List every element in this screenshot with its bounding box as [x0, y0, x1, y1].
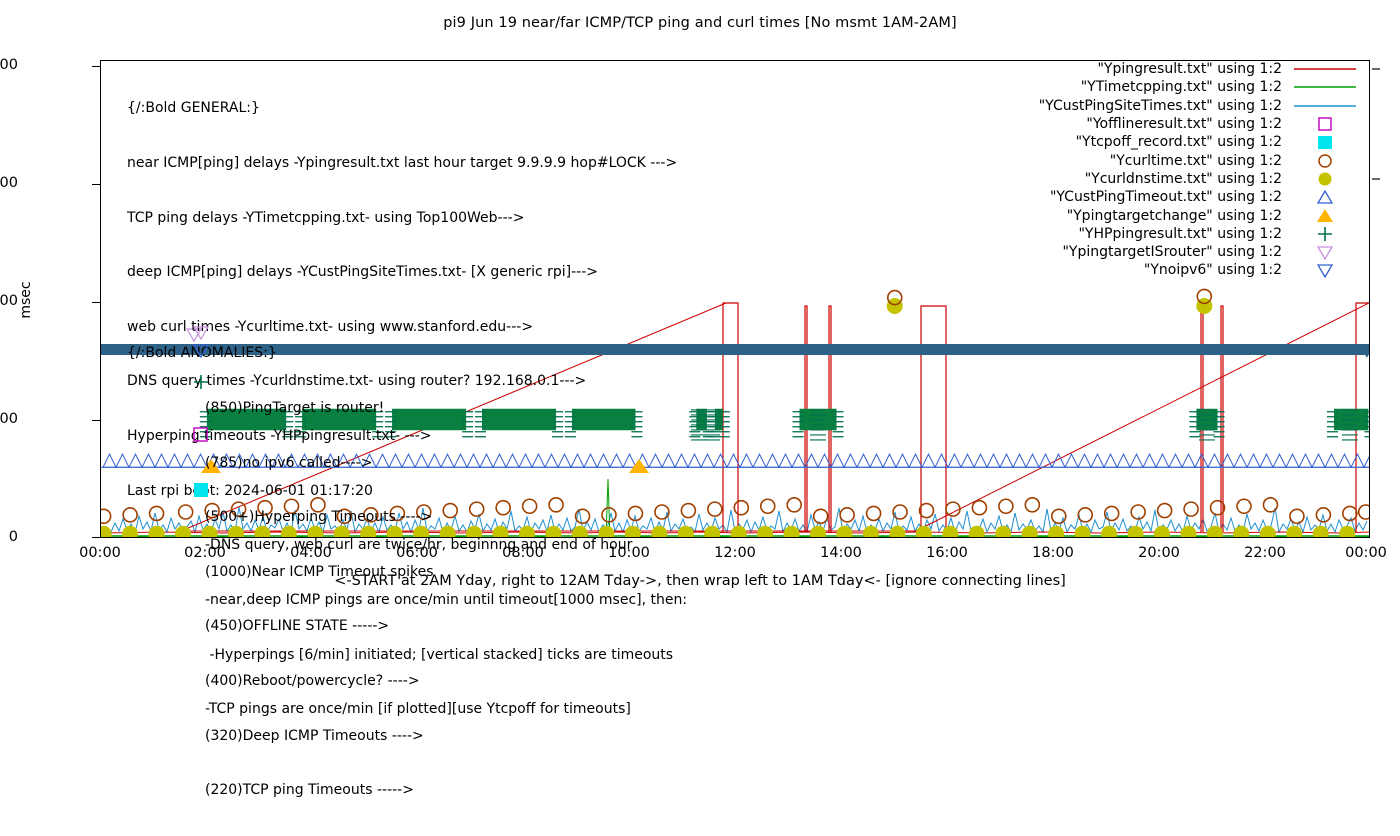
y-tickmark-0 — [92, 537, 100, 538]
x-tick-10: 20:00 — [1138, 545, 1180, 561]
legend-key-triangle-filled — [1288, 207, 1380, 225]
general-line-0: near ICMP[ping] delays -Ypingresult.txt … — [127, 154, 687, 172]
legend-key-line-red — [1288, 60, 1380, 78]
anomaly-item-2: (500+)Hyperping Timeouts ----> — [127, 508, 434, 526]
x-tick-7: 14:00 — [820, 545, 862, 561]
legend-label-6: "Ycurldnstime.txt" using 1:2 — [1085, 171, 1282, 187]
legend-row-0: "Ypingresult.txt" using 1:2 — [980, 60, 1380, 78]
anomaly-item-1: (785)no ipv6 called----> — [127, 454, 434, 472]
legend-row-8: "Ypingtargetchange" using 1:2 — [980, 206, 1380, 224]
legend-key-circle-open — [1288, 152, 1380, 170]
x-tick-8: 16:00 — [926, 545, 968, 561]
legend-label-3: "Yofflineresult.txt" using 1:2 — [1086, 116, 1282, 132]
legend-label-7: "YCustPingTimeout.txt" using 1:2 — [1050, 189, 1282, 205]
y-tickmark-1500 — [92, 184, 100, 185]
legend-key-triangle-open — [1288, 188, 1380, 206]
legend-row-11: "Ynoipv6" using 1:2 — [980, 261, 1380, 279]
legend-row-6: "Ycurldnstime.txt" using 1:2 — [980, 170, 1380, 188]
chart-title: pi9 Jun 19 near/far ICMP/TCP ping and cu… — [0, 15, 1400, 31]
anomaly-item-0: (850)PingTarget is router! — [127, 399, 434, 417]
down-triangle-blue-icon — [194, 345, 208, 357]
y-tickmark-2000 — [92, 66, 100, 67]
legend-label-11: "Ynoipv6" using 1:2 — [1144, 262, 1282, 278]
legend-key-line-blue — [1288, 97, 1380, 115]
anomaly-heading: {/:Bold ANOMALIES:} — [127, 344, 434, 362]
plus-green-icon — [194, 375, 208, 389]
legend-key-circle-filled — [1288, 170, 1380, 188]
legend-label-8: "Ypingtargetchange" using 1:2 — [1067, 208, 1282, 224]
down-triangle-violet-icon — [194, 327, 208, 339]
legend: "Ypingresult.txt" using 1:2 "YTimetcppin… — [980, 60, 1380, 280]
legend-key-dtriangle-blue — [1288, 261, 1380, 279]
anomaly-markers — [190, 320, 220, 500]
x-tick-9: 18:00 — [1032, 545, 1074, 561]
legend-row-2: "YCustPingSiteTimes.txt" using 1:2 — [980, 97, 1380, 115]
legend-label-1: "YTimetcpping.txt" using 1:2 — [1081, 79, 1282, 95]
x-tick-0: 00:00 — [79, 545, 121, 561]
legend-label-4: "Ytcpoff_record.txt" using 1:2 — [1076, 134, 1282, 150]
anomaly-item-3: (1000)Near ICMP Timeout spikes — [127, 563, 434, 581]
legend-row-10: "YpingtargetISrouter" using 1:2 — [980, 243, 1380, 261]
legend-row-1: "YTimetcpping.txt" using 1:2 — [980, 78, 1380, 96]
y-tick-500: 500 — [0, 420, 18, 436]
x-tick-6: 12:00 — [714, 545, 756, 561]
anomaly-notes-block: {/:Bold ANOMALIES:} (850)PingTarget is r… — [127, 308, 434, 836]
y-tick-1500: 1500 — [0, 184, 18, 200]
anomaly-item-7: (220)TCP ping Timeouts -----> — [127, 781, 434, 799]
legend-row-4: "Ytcpoff_record.txt" using 1:2 — [980, 133, 1380, 151]
legend-key-dtriangle-violet — [1288, 243, 1380, 261]
anomaly-item-6: (320)Deep ICMP Timeouts ----> — [127, 727, 434, 745]
x-tick-12: 00:00 — [1345, 545, 1387, 561]
y-tick-1000: 1000 — [0, 302, 18, 318]
legend-label-0: "Ypingresult.txt" using 1:2 — [1097, 61, 1282, 77]
square-cyan-icon — [194, 483, 208, 497]
chart-root: pi9 Jun 19 near/far ICMP/TCP ping and cu… — [0, 0, 1400, 600]
legend-key-square-filled — [1288, 133, 1380, 151]
y-tick-2000: 2000 — [0, 66, 18, 82]
legend-key-plus — [1288, 225, 1380, 243]
legend-row-3: "Yofflineresult.txt" using 1:2 — [980, 115, 1380, 133]
legend-row-7: "YCustPingTimeout.txt" using 1:2 — [980, 188, 1380, 206]
square-magenta-icon — [194, 428, 207, 441]
legend-label-2: "YCustPingSiteTimes.txt" using 1:2 — [1039, 98, 1282, 114]
y-tickmark-500 — [92, 420, 100, 421]
legend-key-square-open — [1288, 115, 1380, 133]
anomaly-item-4: (450)OFFLINE STATE -----> — [127, 617, 434, 635]
legend-label-10: "YpingtargetISrouter" using 1:2 — [1062, 244, 1282, 260]
legend-row-5: "Ycurltime.txt" using 1:2 — [980, 151, 1380, 169]
legend-label-5: "Ycurltime.txt" using 1:2 — [1110, 153, 1282, 169]
y-axis-label: msec — [18, 260, 34, 340]
legend-key-line-green — [1288, 78, 1380, 96]
legend-label-9: "YHPpingresult.txt" using 1:2 — [1078, 226, 1282, 242]
x-tick-11: 22:00 — [1244, 545, 1286, 561]
legend-row-9: "YHPpingresult.txt" using 1:2 — [980, 225, 1380, 243]
general-heading: {/:Bold GENERAL:} — [127, 99, 687, 117]
y-tickmark-1000 — [92, 302, 100, 303]
general-line-2: deep ICMP[ping] delays -YCustPingSiteTim… — [127, 263, 687, 281]
anomaly-item-5: (400)Reboot/powercycle? ----> — [127, 672, 434, 690]
general-line-1: TCP ping delays -YTimetcpping.txt- using… — [127, 209, 687, 227]
